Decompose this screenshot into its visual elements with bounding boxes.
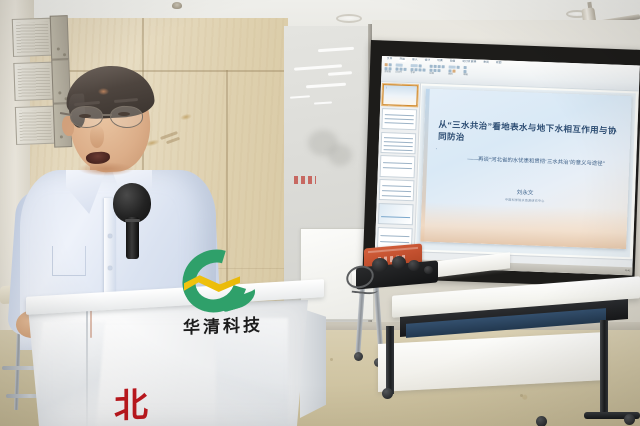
tab-design[interactable]: 设计 [424, 59, 432, 63]
ceiling-light-icon [336, 14, 362, 23]
slide-tick-mark: 、 [436, 145, 440, 151]
cable-coil [372, 258, 388, 272]
powerpoint-window: 文件 开始 插入 设计 切换 动画 幻灯片放映 审阅 视图 剪贴板 [374, 56, 640, 275]
lens-right [110, 105, 144, 128]
caster-wheel [382, 388, 393, 399]
lectern-edge [86, 304, 88, 426]
microphone [113, 183, 153, 261]
caster-wheel [624, 414, 635, 425]
projection-screen: 文件 开始 插入 设计 切换 动画 幻灯片放映 审阅 视图 剪贴板 [374, 56, 640, 275]
current-slide[interactable]: 从“三水共治”看地表水与地下水相互作用与协同防治 、 ——再谈“河北省的水忧患和… [420, 89, 631, 249]
tab-transitions[interactable]: 切换 [436, 59, 444, 63]
lectern-scuff [90, 310, 92, 338]
ribbon-group-label: 编辑 [463, 74, 467, 77]
shirt-pocket [52, 246, 86, 276]
ribbon-group-font[interactable]: 字体 [410, 64, 425, 76]
slide-thumbnail[interactable] [378, 203, 414, 226]
ribbon-group-label: 绘图 [448, 73, 459, 76]
tab-insert[interactable]: 插入 [411, 58, 419, 62]
ribbon-group-slides[interactable]: 幻灯片 [395, 64, 406, 75]
adapter [424, 266, 433, 274]
tab-slideshow[interactable]: 幻灯片放映 [461, 60, 477, 65]
glasses-bridge [102, 114, 112, 116]
slide-accent-stripe [420, 89, 430, 242]
caster-wheel [536, 416, 547, 426]
slide-thumbnail[interactable]: 1 [382, 84, 418, 107]
ribbon-group-drawing[interactable]: 绘图 [448, 65, 459, 76]
ribbon-command-groups[interactable]: 剪贴板 幻灯片 字体 段落 [384, 63, 468, 77]
tab-review[interactable]: 审阅 [482, 61, 490, 65]
lecture-room-photo: 文件 开始 插入 设计 切换 动画 幻灯片放映 审阅 视图 剪贴板 [0, 0, 640, 426]
ribbon-group-label: 剪贴板 [384, 71, 391, 74]
tab-file[interactable]: 文件 [386, 57, 394, 61]
slide-thumbnail[interactable] [381, 108, 417, 131]
front-folding-table [392, 286, 640, 426]
ribbon-group-label: 段落 [429, 73, 444, 77]
lectern-reflection [33, 322, 105, 426]
company-logo: 华清科技 [164, 250, 282, 342]
slide-thumbnail[interactable] [379, 179, 415, 202]
ribbon-group-paragraph[interactable]: 段落 [429, 65, 444, 77]
cable-coil [392, 256, 406, 269]
slide-thumbnail-panel[interactable]: 1 [375, 82, 421, 251]
glass-red-text [294, 176, 316, 184]
ribbon-group-clipboard[interactable]: 剪贴板 [384, 63, 391, 74]
caster-wheel [354, 352, 363, 361]
microphone-body [126, 217, 139, 259]
eyeglasses [68, 106, 154, 130]
tab-view[interactable]: 视图 [495, 61, 503, 65]
ribbon-group-label: 字体 [410, 72, 425, 76]
sprinkler-icon [172, 2, 182, 9]
thumbnail-index: 1 [386, 87, 387, 89]
ribbon-group-label: 幻灯片 [395, 72, 406, 75]
slide-thumbnail[interactable] [380, 155, 416, 178]
banner-character: 北 [114, 377, 148, 426]
tab-home[interactable]: 开始 [398, 58, 406, 62]
slide-title: 从“三水共治”看地表水与地下水相互作用与协同防治 [438, 119, 623, 149]
table-modesty-panel [378, 332, 606, 392]
ribbon-group-editing[interactable]: 编辑 [463, 66, 468, 77]
slide-thumbnail[interactable] [380, 132, 416, 155]
slide-subtitle: ——再谈“河北省的水忧患和贯彻‘三水共治’的意义与途径” [467, 156, 623, 169]
cable-coil [408, 260, 420, 271]
logo-text: 华清科技 [164, 310, 282, 339]
microphone-ring [125, 219, 140, 222]
nose [90, 126, 104, 148]
tab-animations[interactable]: 动画 [449, 59, 457, 63]
taskbar-clock: 10:42 [625, 270, 631, 272]
chin-shadow [78, 162, 134, 176]
forehead-mark [98, 88, 109, 95]
slide-editing-area[interactable]: 从“三水共治”看地表水与地下水相互作用与协同防治 、 ——再谈“河北省的水忧患和… [416, 85, 636, 257]
